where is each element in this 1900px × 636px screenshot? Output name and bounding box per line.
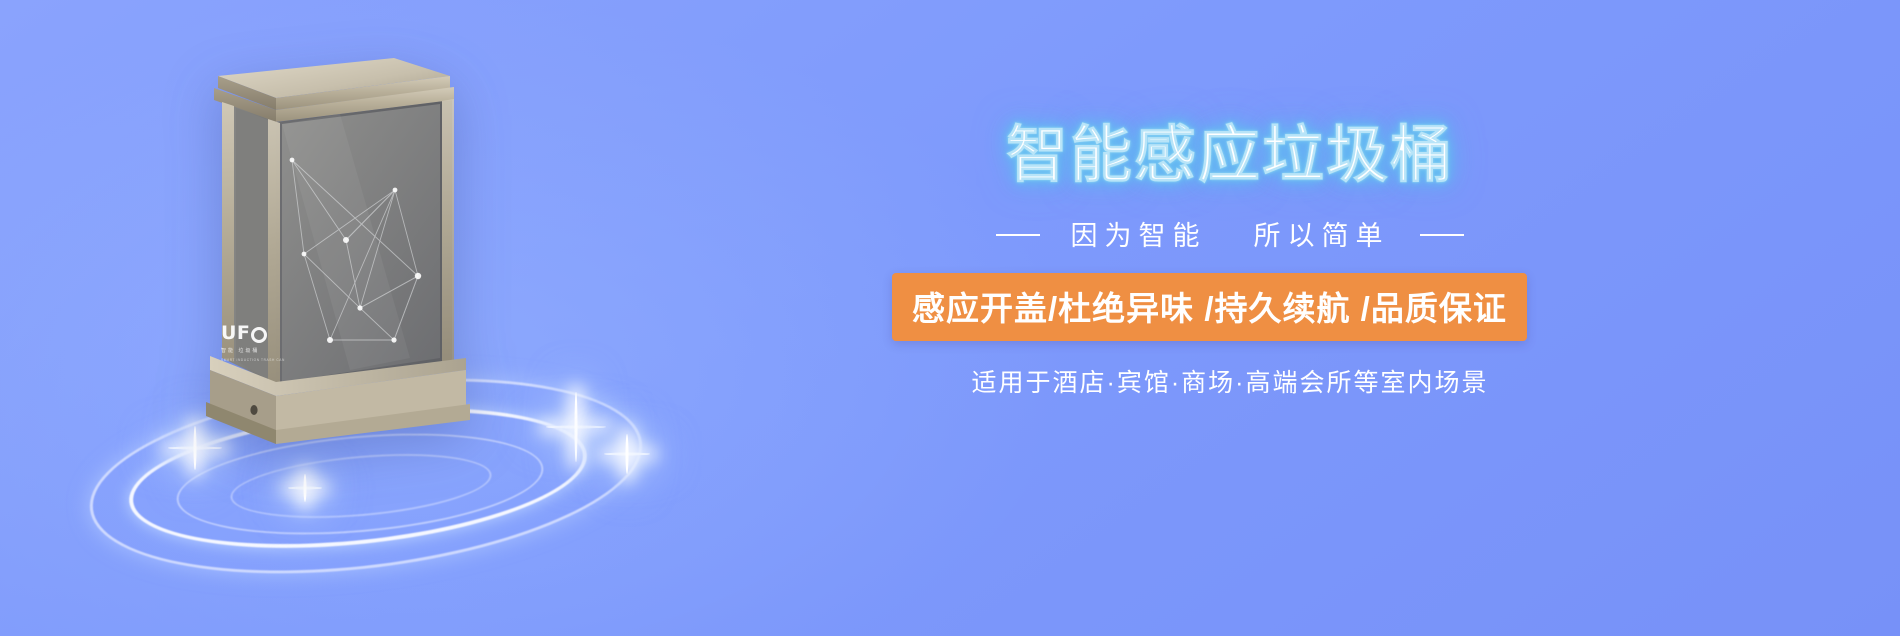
feature-badge: 感应开盖/杜绝异味 /持久续航 /品质保证 <box>892 273 1527 341</box>
sparkle-icon <box>546 392 606 462</box>
sparkle-icon <box>604 434 650 474</box>
subtitle-left-text: 因为智能 <box>1070 221 1206 251</box>
product-hero-banner: UF 智能 垃圾桶 SMART INDUCTION TRASH CAN 智能感应… <box>0 0 1900 636</box>
sparkle-icon <box>288 474 322 502</box>
smart-trash-can-image: UF 智能 垃圾桶 SMART INDUCTION TRASH CAN <box>180 40 510 460</box>
usage-scenario-tagline: 适用于酒店·宾馆·商场·高端会所等室内场景 <box>880 363 1580 399</box>
trash-can-illustration <box>180 40 510 460</box>
product-stage: UF 智能 垃圾桶 SMART INDUCTION TRASH CAN <box>60 30 760 606</box>
marketing-copy-block: 智能感应垃圾桶 因为智能 所以简单 感应开盖/杜绝异味 /持久续航 /品质保证 … <box>880 0 1840 636</box>
dash-left-icon <box>996 234 1040 236</box>
subtitle-right-text: 所以简单 <box>1254 221 1390 251</box>
page-title: 智能感应垃圾桶 <box>880 125 1580 187</box>
subtitle: 因为智能 所以简单 <box>880 214 1580 253</box>
dash-right-icon <box>1420 234 1464 236</box>
